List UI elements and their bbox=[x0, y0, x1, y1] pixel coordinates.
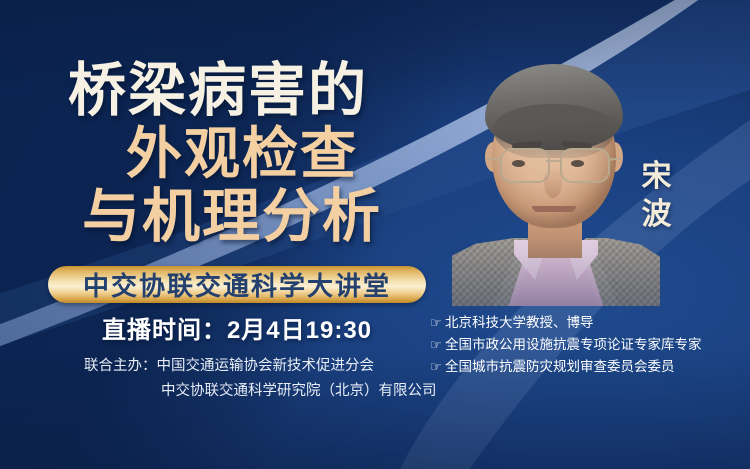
pointing-hand-icon: ☞ bbox=[430, 356, 445, 377]
speaker-name-char-1: 宋 bbox=[634, 158, 680, 196]
page-title: 桥梁病害的 外观检查 与机理分析 bbox=[0, 62, 430, 246]
photo-bottom-fade bbox=[452, 56, 660, 306]
organizer-line-1: 联合主办：中国交通运输协会新技术促进分会 bbox=[84, 354, 437, 379]
title-line-2: 外观检查 bbox=[0, 126, 430, 182]
organizer-line-2: 中交协联交通科学研究院（北京）有限公司 bbox=[84, 379, 437, 404]
speaker-name: 宋 波 bbox=[634, 158, 680, 233]
pointing-hand-icon: ☞ bbox=[430, 312, 445, 333]
organizers-block: 联合主办：中国交通运输协会新技术促进分会 中交协联交通科学研究院（北京）有限公司 bbox=[84, 354, 437, 405]
series-banner: 中交协联交通科学大讲堂 bbox=[48, 266, 426, 303]
credential-text: 全国市政公用设施抗震专项论证专家库专家 bbox=[445, 334, 702, 356]
title-line-1: 桥梁病害的 bbox=[0, 62, 430, 120]
webinar-poster: 桥梁病害的 外观检查 与机理分析 中交协联交通科学大讲堂 直播时间：2月4日19… bbox=[0, 0, 750, 469]
credential-text: 北京科技大学教授、博导 bbox=[445, 312, 594, 334]
series-banner-label: 中交协联交通科学大讲堂 bbox=[83, 266, 391, 303]
credential-item: ☞ 全国市政公用设施抗震专项论证专家库专家 bbox=[430, 334, 702, 356]
credential-item: ☞ 全国城市抗震防灾规划审查委员会委员 bbox=[430, 356, 702, 378]
speaker-credentials: ☞ 北京科技大学教授、博导 ☞ 全国市政公用设施抗震专项论证专家库专家 ☞ 全国… bbox=[430, 312, 702, 378]
pointing-hand-icon: ☞ bbox=[430, 334, 445, 355]
speaker-name-char-2: 波 bbox=[634, 196, 680, 234]
credential-item: ☞ 北京科技大学教授、博导 bbox=[430, 312, 702, 334]
speaker-photo bbox=[452, 56, 660, 306]
schedule-text: 直播时间：2月4日19:30 bbox=[48, 310, 426, 345]
credential-text: 全国城市抗震防灾规划审查委员会委员 bbox=[445, 356, 675, 378]
title-line-3: 与机理分析 bbox=[0, 188, 430, 246]
